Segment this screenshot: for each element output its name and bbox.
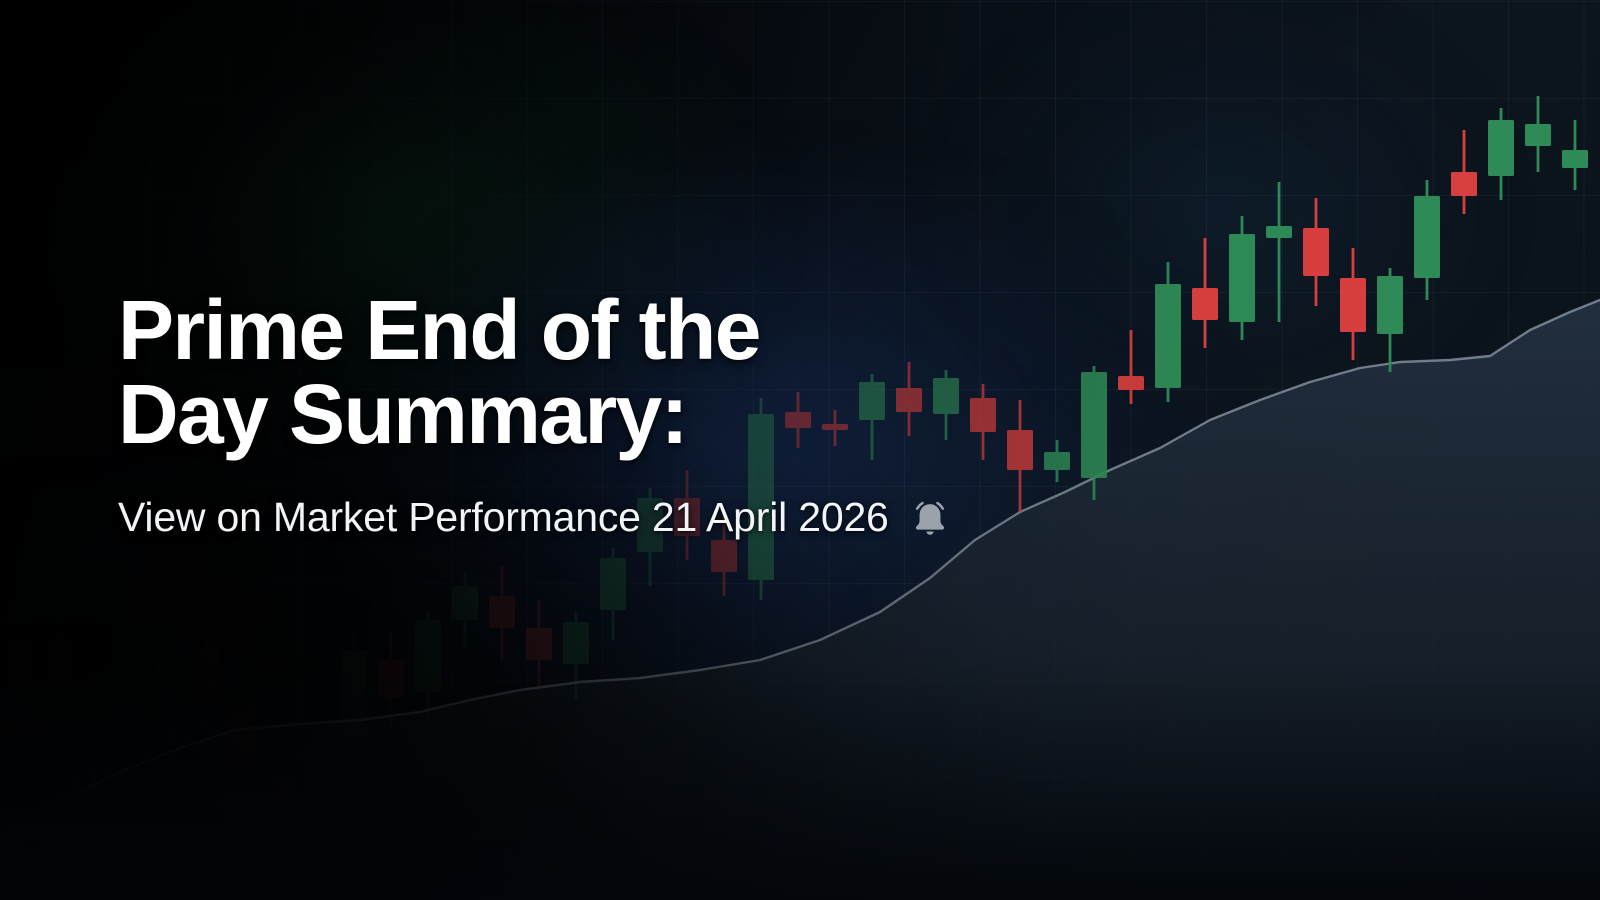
candle-body <box>1377 276 1403 334</box>
notification-bell-icon <box>907 496 953 542</box>
candle-body <box>378 660 404 698</box>
candle-body <box>563 622 589 664</box>
candle-body <box>711 540 737 572</box>
candle-body <box>526 628 552 660</box>
candle <box>8 612 34 700</box>
candle-body <box>156 662 182 710</box>
candle <box>1488 108 1514 200</box>
candle <box>45 618 71 772</box>
banner-stage: Prime End of the Day Summary: View on Ma… <box>0 0 1600 900</box>
headline-block: Prime End of the Day Summary: View on Ma… <box>118 288 1318 542</box>
candle-body <box>1488 120 1514 176</box>
candle <box>526 600 552 690</box>
candle-body <box>1451 172 1477 196</box>
candle-body <box>193 648 219 702</box>
candle <box>489 566 515 660</box>
candle-body <box>82 712 108 742</box>
candle-body <box>489 596 515 628</box>
candle-body <box>415 620 441 692</box>
subtitle-row: View on Market Performance 21 April 2026 <box>118 492 1318 542</box>
candle-body <box>119 672 145 735</box>
candle <box>156 662 182 742</box>
candle-body <box>600 558 626 610</box>
candle <box>1377 268 1403 372</box>
candle <box>1525 96 1551 172</box>
candle-body <box>1303 228 1329 276</box>
candle-body <box>45 635 71 728</box>
candle-body <box>8 640 34 700</box>
candle-body <box>1414 196 1440 278</box>
candle <box>119 672 145 768</box>
candle <box>1562 120 1588 190</box>
candle-body <box>341 650 367 742</box>
subtitle-text: View on Market Performance 21 April 2026 <box>118 494 889 541</box>
candle <box>1414 180 1440 300</box>
candle-body <box>1340 278 1366 332</box>
candle <box>193 636 219 752</box>
candle-body <box>1525 124 1551 146</box>
candle <box>415 610 441 718</box>
page-title: Prime End of the Day Summary: <box>118 288 1318 456</box>
candle-body <box>1562 150 1588 168</box>
candle <box>1340 248 1366 360</box>
candle-body <box>304 748 330 800</box>
candle <box>600 548 626 640</box>
candle <box>1451 130 1477 214</box>
candle <box>452 572 478 648</box>
candle-body <box>230 700 256 766</box>
candle-body <box>267 772 293 800</box>
candle-body <box>452 586 478 620</box>
candle-body <box>1266 226 1292 238</box>
